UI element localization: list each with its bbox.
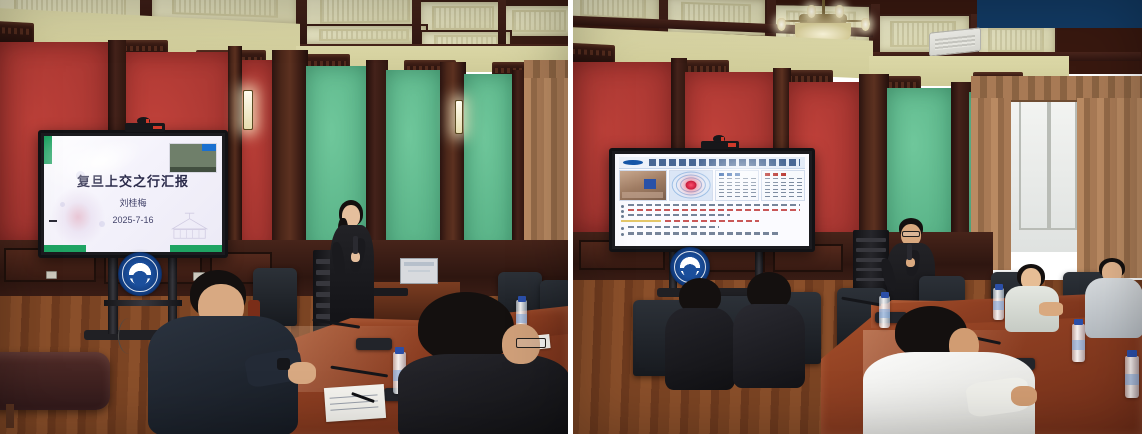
slide-date: 2025-7-16 — [44, 215, 222, 225]
slide2-bullet-6 — [621, 232, 803, 235]
presenter-microphone — [353, 236, 358, 254]
slide2-bullet-list — [621, 204, 803, 244]
left-attendee-front — [138, 270, 328, 434]
attendee-wristwatch — [277, 358, 290, 370]
right-bottle-d-cap — [1127, 350, 1137, 357]
back-attendee-2-torso — [733, 304, 805, 388]
left-display-screen: 复旦上交之行汇报 刘桂梅 2025-7-16 — [44, 136, 222, 252]
left-panel-green-3 — [464, 74, 514, 256]
pip-badge-icon — [202, 144, 216, 151]
right-slide — [615, 154, 809, 246]
left-display-cable — [118, 318, 140, 354]
left-tv-stand-post — [108, 252, 118, 334]
slide2-bullet-1 — [621, 204, 803, 207]
right-column-3 — [951, 82, 971, 252]
left-bench-leg — [6, 404, 14, 428]
edge-attendee-torso — [1085, 278, 1142, 338]
left-column-4 — [440, 62, 466, 258]
right-attendee-edge — [1083, 258, 1142, 346]
slide2-bullet-3 — [621, 214, 803, 217]
attendee-right-torso — [398, 354, 568, 434]
right-chandelier-bulb-4 — [835, 5, 844, 18]
left-bench-sofa[interactable] — [0, 352, 110, 410]
left-display[interactable]: 复旦上交之行汇报 刘桂梅 2025-7-16 — [38, 130, 228, 258]
right-bottle-a-cap — [881, 292, 889, 298]
right-display-camera-lens-icon — [713, 135, 725, 143]
left-attendee-right — [398, 292, 568, 434]
slide2-bullet-4 — [621, 220, 803, 223]
right-photo — [573, 0, 1142, 434]
right-attendee-woman — [1001, 264, 1063, 336]
left-column-main — [272, 50, 308, 262]
right-attendee-back-1 — [665, 278, 735, 388]
slide-video-pip[interactable] — [169, 143, 217, 173]
slide2-bullet-5 — [621, 226, 803, 229]
right-screen-glare — [693, 154, 790, 200]
left-sconce-2 — [455, 100, 463, 134]
right-water-bottle-d[interactable] — [1125, 356, 1139, 398]
left-slide: 复旦上交之行汇报 刘桂梅 2025-7-16 — [44, 136, 222, 252]
slide2-header-bullet-icon — [623, 160, 643, 165]
attendee-right-glasses-icon — [516, 338, 546, 348]
left-papers-1[interactable] — [324, 384, 386, 422]
right-chandelier-bulb-3 — [807, 5, 816, 18]
attendee-hand — [288, 362, 316, 384]
left-mic-base-1 — [356, 338, 392, 350]
right-presenter-microphone — [907, 244, 912, 260]
left-sconce-1 — [243, 90, 253, 130]
slide2-panel-photo — [619, 170, 667, 201]
pip-strip — [170, 167, 216, 172]
back-attendee-1-torso — [665, 308, 735, 390]
slide-corner-accent-bottom-right — [170, 245, 222, 252]
left-wall-outlet-1 — [46, 271, 57, 279]
right-display-screen — [615, 154, 809, 246]
left-screen-glare — [44, 136, 128, 193]
left-column-2 — [228, 46, 242, 258]
right-curtain-right — [1077, 98, 1142, 278]
photo-pair: 复旦上交之行汇报 刘桂梅 2025-7-16 — [0, 0, 1142, 434]
left-photo: 复旦上交之行汇报 刘桂梅 2025-7-16 — [0, 0, 568, 434]
right-presenter-glasses-icon — [902, 231, 920, 237]
right-chandelier-bulb-2 — [861, 18, 870, 31]
right-chandelier-bulb-1 — [777, 18, 786, 31]
left-display-camera-lens-icon — [137, 117, 150, 125]
slide2-bullet-2 — [621, 209, 803, 212]
left-panel-green-2 — [386, 70, 442, 256]
left-monitor[interactable] — [400, 258, 438, 284]
right-bottle-c-cap — [1074, 319, 1083, 325]
right-display[interactable] — [609, 148, 815, 252]
right-attendee-back-2 — [733, 272, 805, 386]
woman-arm — [1039, 302, 1063, 316]
right-window-mullion — [1047, 100, 1051, 230]
slide-presenter-name: 刘桂梅 — [44, 196, 222, 209]
attendee-right-hair — [418, 292, 514, 362]
white-shirt-hand — [1011, 386, 1037, 406]
